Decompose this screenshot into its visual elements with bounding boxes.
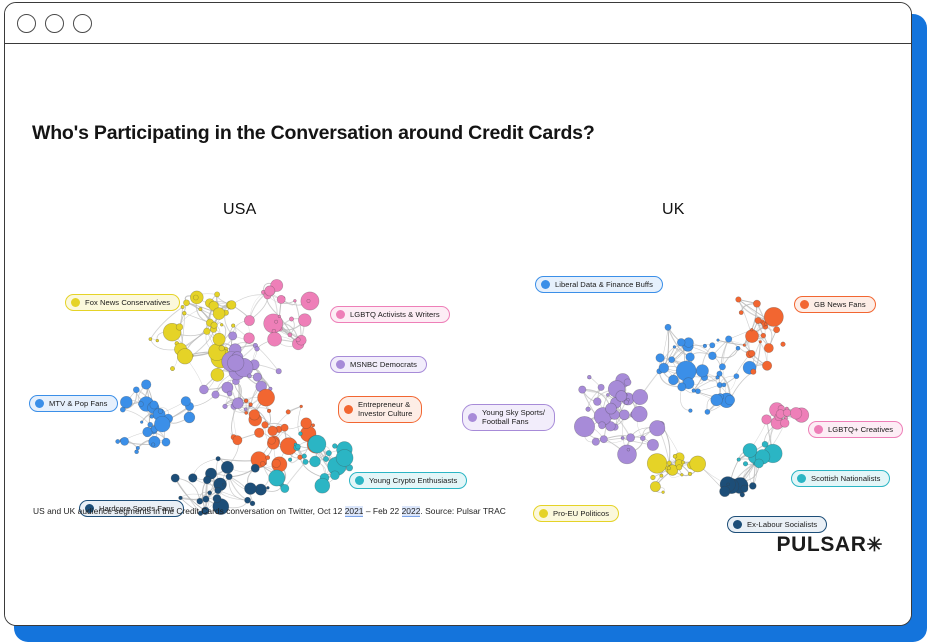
graph-node[interactable] bbox=[214, 292, 219, 297]
graph-node[interactable] bbox=[140, 421, 143, 424]
graph-node[interactable] bbox=[300, 426, 316, 442]
graph-node[interactable] bbox=[292, 338, 304, 350]
graph-node[interactable] bbox=[781, 342, 786, 347]
graph-node[interactable] bbox=[216, 456, 220, 460]
graph-node[interactable] bbox=[594, 408, 612, 426]
graph-node[interactable] bbox=[680, 473, 683, 476]
graph-node[interactable] bbox=[139, 397, 154, 412]
graph-node[interactable] bbox=[616, 373, 630, 387]
graph-node[interactable] bbox=[296, 335, 306, 345]
legend-pill-liberal-data-finance-buffs[interactable]: Liberal Data & Finance Buffs bbox=[535, 276, 663, 293]
graph-node[interactable] bbox=[255, 484, 266, 495]
graph-node[interactable] bbox=[295, 444, 300, 449]
graph-node[interactable] bbox=[753, 300, 760, 307]
graph-node[interactable] bbox=[211, 368, 224, 381]
graph-node[interactable] bbox=[346, 465, 353, 472]
graph-node[interactable] bbox=[766, 451, 769, 454]
graph-node[interactable] bbox=[743, 344, 746, 347]
graph-node[interactable] bbox=[214, 478, 227, 491]
graph-node[interactable] bbox=[236, 398, 242, 404]
graph-node[interactable] bbox=[750, 328, 753, 331]
graph-node[interactable] bbox=[241, 362, 246, 367]
graph-node[interactable] bbox=[301, 292, 319, 310]
graph-node[interactable] bbox=[120, 439, 125, 444]
graph-node[interactable] bbox=[148, 422, 153, 427]
graph-node[interactable] bbox=[701, 374, 708, 381]
graph-node[interactable] bbox=[220, 323, 223, 326]
graph-node[interactable] bbox=[221, 461, 233, 473]
graph-node[interactable] bbox=[773, 327, 779, 333]
graph-node[interactable] bbox=[627, 434, 635, 442]
graph-node[interactable] bbox=[612, 424, 619, 431]
graph-node[interactable] bbox=[720, 477, 735, 492]
graph-node[interactable] bbox=[281, 424, 288, 431]
graph-node[interactable] bbox=[619, 410, 629, 420]
graph-node[interactable] bbox=[764, 343, 773, 352]
graph-node[interactable] bbox=[188, 474, 197, 483]
legend-pill-lgbtq-activists-writers[interactable]: LGBTQ Activists & Writers bbox=[330, 306, 450, 323]
legend-pill-entrepreneur-investor-culture[interactable]: Entrepreneur &Investor Culture bbox=[338, 396, 422, 423]
graph-node[interactable] bbox=[151, 443, 155, 447]
graph-node[interactable] bbox=[213, 308, 225, 320]
graph-node[interactable] bbox=[640, 436, 645, 441]
graph-node[interactable] bbox=[281, 484, 289, 492]
graph-node[interactable] bbox=[649, 420, 664, 435]
graph-node[interactable] bbox=[745, 330, 758, 343]
graph-node[interactable] bbox=[232, 352, 243, 363]
graph-node[interactable] bbox=[233, 436, 242, 445]
graph-node[interactable] bbox=[746, 350, 753, 357]
graph-node[interactable] bbox=[254, 428, 264, 438]
graph-node[interactable] bbox=[249, 413, 262, 426]
graph-node[interactable] bbox=[323, 456, 328, 461]
graph-node[interactable] bbox=[719, 393, 734, 408]
graph-node[interactable] bbox=[667, 465, 678, 476]
graph-node[interactable] bbox=[219, 345, 225, 351]
graph-node[interactable] bbox=[146, 402, 154, 410]
graph-node[interactable] bbox=[586, 407, 591, 412]
graph-node[interactable] bbox=[760, 320, 764, 324]
graph-node[interactable] bbox=[605, 403, 616, 414]
graph-node[interactable] bbox=[669, 357, 675, 363]
graph-node[interactable] bbox=[264, 314, 283, 333]
graph-node[interactable] bbox=[154, 416, 170, 432]
graph-node[interactable] bbox=[223, 310, 228, 315]
graph-node[interactable] bbox=[710, 343, 715, 348]
graph-node[interactable] bbox=[624, 400, 628, 404]
graph-node[interactable] bbox=[682, 341, 693, 352]
graph-node[interactable] bbox=[606, 421, 616, 431]
graph-node[interactable] bbox=[208, 491, 212, 495]
graph-node[interactable] bbox=[204, 328, 211, 335]
graph-node[interactable] bbox=[659, 363, 669, 373]
graph-node[interactable] bbox=[732, 478, 748, 494]
graph-node[interactable] bbox=[288, 333, 292, 337]
graph-node[interactable] bbox=[335, 461, 342, 468]
graph-node[interactable] bbox=[209, 301, 219, 311]
graph-node[interactable] bbox=[150, 414, 154, 418]
graph-node[interactable] bbox=[234, 358, 253, 377]
graph-node[interactable] bbox=[310, 442, 317, 449]
graph-node[interactable] bbox=[690, 456, 706, 472]
graph-node[interactable] bbox=[734, 374, 739, 379]
graph-node[interactable] bbox=[717, 382, 722, 387]
graph-node[interactable] bbox=[121, 437, 129, 445]
graph-node[interactable] bbox=[601, 415, 606, 420]
graph-node[interactable] bbox=[776, 410, 785, 419]
graph-node[interactable] bbox=[647, 439, 658, 450]
graph-node[interactable] bbox=[268, 426, 278, 436]
graph-node[interactable] bbox=[624, 379, 631, 386]
graph-node[interactable] bbox=[749, 482, 756, 489]
graph-node[interactable] bbox=[133, 387, 139, 393]
graph-node[interactable] bbox=[750, 450, 755, 455]
caption-year-end[interactable]: 2022 bbox=[402, 506, 421, 517]
graph-node[interactable] bbox=[736, 297, 742, 303]
graph-node[interactable] bbox=[740, 493, 745, 498]
graph-node[interactable] bbox=[320, 438, 324, 442]
graph-node[interactable] bbox=[724, 480, 729, 485]
minimize-button[interactable] bbox=[45, 14, 64, 33]
graph-node[interactable] bbox=[717, 339, 720, 342]
graph-node[interactable] bbox=[668, 375, 678, 385]
graph-node[interactable] bbox=[598, 422, 605, 429]
graph-node[interactable] bbox=[264, 292, 272, 300]
graph-node[interactable] bbox=[230, 353, 237, 360]
graph-node[interactable] bbox=[226, 473, 232, 479]
graph-node[interactable] bbox=[763, 324, 768, 329]
graph-node[interactable] bbox=[175, 341, 179, 345]
graph-node[interactable] bbox=[227, 301, 236, 310]
graph-node[interactable] bbox=[215, 487, 221, 493]
graph-node[interactable] bbox=[279, 482, 284, 487]
graph-node[interactable] bbox=[150, 427, 157, 434]
graph-node[interactable] bbox=[231, 434, 237, 440]
graph-node[interactable] bbox=[730, 396, 733, 399]
graph-node[interactable] bbox=[249, 404, 252, 407]
graph-node[interactable] bbox=[251, 464, 259, 472]
graph-node[interactable] bbox=[665, 324, 671, 330]
graph-node[interactable] bbox=[762, 321, 767, 326]
graph-node[interactable] bbox=[276, 472, 283, 479]
graph-node[interactable] bbox=[153, 412, 159, 418]
graph-node[interactable] bbox=[724, 479, 739, 494]
graph-node[interactable] bbox=[275, 426, 282, 433]
graph-node[interactable] bbox=[720, 486, 731, 497]
graph-node[interactable] bbox=[277, 295, 285, 303]
graph-node[interactable] bbox=[247, 374, 251, 378]
graph-node[interactable] bbox=[728, 480, 731, 483]
graph-node[interactable] bbox=[618, 445, 637, 464]
graph-node[interactable] bbox=[267, 437, 279, 449]
graph-node[interactable] bbox=[245, 497, 251, 503]
graph-node[interactable] bbox=[253, 373, 262, 382]
graph-node[interactable] bbox=[269, 387, 273, 391]
graph-node[interactable] bbox=[752, 334, 755, 337]
graph-node[interactable] bbox=[148, 402, 159, 413]
graph-node[interactable] bbox=[276, 368, 281, 373]
graph-node[interactable] bbox=[330, 471, 339, 480]
graph-node[interactable] bbox=[610, 410, 620, 420]
graph-node[interactable] bbox=[227, 355, 244, 372]
graph-node[interactable] bbox=[158, 409, 163, 414]
caption-year-start[interactable]: 2021 bbox=[345, 506, 364, 517]
graph-node[interactable] bbox=[224, 347, 228, 351]
graph-node[interactable] bbox=[606, 393, 609, 396]
graph-node[interactable] bbox=[177, 349, 192, 364]
graph-node[interactable] bbox=[667, 466, 671, 470]
graph-node[interactable] bbox=[759, 340, 762, 343]
graph-node[interactable] bbox=[725, 336, 732, 343]
graph-node[interactable] bbox=[719, 364, 725, 370]
graph-node[interactable] bbox=[600, 436, 607, 443]
graph-node[interactable] bbox=[747, 332, 753, 338]
graph-node[interactable] bbox=[232, 373, 238, 379]
graph-node[interactable] bbox=[748, 452, 759, 463]
graph-node[interactable] bbox=[703, 344, 707, 348]
graph-node[interactable] bbox=[213, 333, 225, 345]
graph-node[interactable] bbox=[737, 458, 741, 462]
graph-node[interactable] bbox=[298, 314, 311, 327]
graph-node[interactable] bbox=[739, 478, 745, 484]
legend-pill-young-sky-sports-football-fans[interactable]: Young Sky Sports/Football Fans bbox=[462, 404, 555, 431]
graph-node[interactable] bbox=[185, 402, 193, 410]
graph-node[interactable] bbox=[203, 476, 211, 484]
graph-node[interactable] bbox=[673, 345, 676, 348]
graph-node[interactable] bbox=[696, 365, 708, 377]
graph-node[interactable] bbox=[684, 338, 694, 348]
graph-node[interactable] bbox=[768, 319, 771, 322]
graph-node[interactable] bbox=[265, 286, 275, 296]
graph-node[interactable] bbox=[210, 326, 217, 333]
graph-node[interactable] bbox=[251, 452, 267, 468]
graph-node[interactable] bbox=[174, 343, 186, 355]
graph-node[interactable] bbox=[263, 461, 267, 465]
graph-node[interactable] bbox=[771, 417, 784, 430]
graph-node[interactable] bbox=[199, 385, 208, 394]
graph-node[interactable] bbox=[244, 333, 255, 344]
graph-node[interactable] bbox=[708, 352, 716, 360]
graph-node[interactable] bbox=[206, 319, 213, 326]
legend-pill-msnbc-democrats[interactable]: MSNBC Democrats bbox=[330, 356, 427, 373]
graph-node[interactable] bbox=[682, 368, 691, 377]
graph-node[interactable] bbox=[689, 409, 693, 413]
graph-node[interactable] bbox=[755, 459, 764, 468]
graph-node[interactable] bbox=[163, 323, 181, 341]
graph-node[interactable] bbox=[229, 344, 241, 356]
graph-node[interactable] bbox=[149, 337, 152, 340]
graph-node[interactable] bbox=[162, 438, 170, 446]
graph-node[interactable] bbox=[298, 455, 303, 460]
graph-node[interactable] bbox=[269, 470, 285, 486]
graph-node[interactable] bbox=[260, 461, 265, 466]
graph-node[interactable] bbox=[229, 332, 237, 340]
graph-node[interactable] bbox=[743, 461, 748, 466]
graph-node[interactable] bbox=[593, 398, 601, 406]
graph-node[interactable] bbox=[266, 486, 269, 489]
graph-node[interactable] bbox=[337, 442, 353, 458]
graph-node[interactable] bbox=[764, 444, 783, 463]
graph-node[interactable] bbox=[269, 436, 280, 447]
graph-node[interactable] bbox=[598, 384, 604, 390]
graph-node[interactable] bbox=[682, 366, 685, 369]
graph-node[interactable] bbox=[252, 366, 256, 370]
graph-node[interactable] bbox=[308, 435, 326, 453]
graph-node[interactable] bbox=[268, 437, 276, 445]
graph-node[interactable] bbox=[278, 315, 281, 318]
graph-node[interactable] bbox=[574, 416, 594, 436]
graph-node[interactable] bbox=[616, 391, 627, 402]
graph-node[interactable] bbox=[656, 354, 665, 363]
graph-node[interactable] bbox=[310, 456, 321, 467]
graph-node[interactable] bbox=[120, 396, 132, 408]
graph-node[interactable] bbox=[268, 332, 282, 346]
graph-node[interactable] bbox=[755, 450, 770, 465]
graph-node[interactable] bbox=[171, 474, 179, 482]
graph-node[interactable] bbox=[256, 381, 267, 392]
graph-node[interactable] bbox=[681, 461, 684, 464]
graph-node[interactable] bbox=[227, 391, 232, 396]
graph-node[interactable] bbox=[300, 405, 303, 408]
graph-node[interactable] bbox=[181, 305, 184, 308]
graph-node[interactable] bbox=[610, 408, 614, 412]
graph-node[interactable] bbox=[657, 368, 662, 373]
graph-node[interactable] bbox=[244, 399, 248, 403]
graph-node[interactable] bbox=[170, 366, 174, 370]
graph-node[interactable] bbox=[120, 407, 125, 412]
graph-node[interactable] bbox=[783, 409, 790, 416]
graph-node[interactable] bbox=[267, 409, 271, 413]
graph-node[interactable] bbox=[675, 460, 683, 468]
graph-node[interactable] bbox=[630, 411, 637, 418]
legend-pill-ex-labour-socialists[interactable]: Ex-Labour Socialists bbox=[727, 516, 827, 533]
close-button[interactable] bbox=[17, 14, 36, 33]
graph-node[interactable] bbox=[143, 427, 153, 437]
graph-node[interactable] bbox=[610, 397, 621, 408]
graph-node[interactable] bbox=[688, 472, 692, 476]
graph-node[interactable] bbox=[587, 375, 591, 379]
graph-node[interactable] bbox=[261, 290, 265, 294]
graph-node[interactable] bbox=[205, 299, 214, 308]
graph-node[interactable] bbox=[211, 322, 218, 329]
graph-node[interactable] bbox=[778, 405, 785, 412]
graph-node[interactable] bbox=[183, 300, 189, 306]
graph-node[interactable] bbox=[282, 297, 285, 300]
graph-node[interactable] bbox=[150, 401, 158, 409]
graph-node[interactable] bbox=[647, 454, 667, 474]
graph-node[interactable] bbox=[315, 478, 330, 493]
graph-node[interactable] bbox=[255, 346, 260, 351]
graph-node[interactable] bbox=[785, 407, 788, 410]
graph-node[interactable] bbox=[727, 483, 730, 486]
graph-node[interactable] bbox=[741, 485, 748, 492]
graph-node[interactable] bbox=[244, 315, 254, 325]
graph-node[interactable] bbox=[755, 317, 761, 323]
graph-node[interactable] bbox=[190, 291, 203, 304]
graph-node[interactable] bbox=[761, 333, 766, 338]
graph-node[interactable] bbox=[223, 404, 228, 409]
graph-node[interactable] bbox=[622, 393, 634, 405]
graph-node[interactable] bbox=[717, 371, 722, 376]
graph-node[interactable] bbox=[726, 479, 738, 491]
graph-node[interactable] bbox=[301, 418, 312, 429]
graph-node[interactable] bbox=[258, 389, 275, 406]
graph-node[interactable] bbox=[135, 450, 139, 454]
graph-node[interactable] bbox=[662, 491, 665, 494]
graph-node[interactable] bbox=[665, 465, 674, 474]
graph-node[interactable] bbox=[302, 320, 306, 324]
graph-node[interactable] bbox=[232, 398, 243, 409]
graph-node[interactable] bbox=[298, 432, 302, 436]
graph-node[interactable] bbox=[711, 394, 723, 406]
graph-node[interactable] bbox=[687, 461, 695, 469]
graph-node[interactable] bbox=[288, 458, 292, 462]
graph-node[interactable] bbox=[780, 419, 789, 428]
graph-node[interactable] bbox=[280, 438, 297, 455]
graph-node[interactable] bbox=[790, 407, 802, 419]
graph-node[interactable] bbox=[764, 307, 783, 326]
graph-node[interactable] bbox=[294, 444, 301, 451]
graph-node[interactable] bbox=[182, 311, 186, 315]
graph-node[interactable] bbox=[211, 348, 231, 368]
legend-pill-scottish-nationalists[interactable]: Scottish Nationalists bbox=[791, 470, 890, 487]
graph-node[interactable] bbox=[675, 453, 685, 463]
graph-node[interactable] bbox=[770, 403, 784, 417]
graph-node[interactable] bbox=[736, 346, 740, 350]
graph-node[interactable] bbox=[332, 444, 337, 449]
graph-node[interactable] bbox=[266, 456, 270, 460]
graph-node[interactable] bbox=[197, 498, 203, 504]
graph-node[interactable] bbox=[302, 454, 307, 459]
graph-node[interactable] bbox=[764, 322, 767, 325]
graph-node[interactable] bbox=[632, 389, 647, 404]
graph-node[interactable] bbox=[751, 369, 757, 375]
graph-node[interactable] bbox=[676, 361, 696, 381]
legend-pill-lgbtq-plus-creatives[interactable]: LGBTQ+ Creatives bbox=[808, 421, 903, 438]
graph-node[interactable] bbox=[676, 465, 682, 471]
graph-node[interactable] bbox=[686, 353, 695, 362]
graph-node[interactable] bbox=[289, 317, 293, 321]
graph-node[interactable] bbox=[755, 452, 766, 463]
graph-node[interactable] bbox=[784, 416, 787, 419]
legend-pill-mtv-pop-fans[interactable]: MTV & Pop Fans bbox=[29, 395, 118, 412]
graph-node[interactable] bbox=[272, 459, 280, 467]
graph-node[interactable] bbox=[278, 326, 283, 331]
graph-node[interactable] bbox=[749, 350, 755, 356]
graph-node[interactable] bbox=[156, 339, 159, 342]
graph-node[interactable] bbox=[326, 450, 331, 455]
graph-node[interactable] bbox=[717, 393, 724, 400]
graph-node[interactable] bbox=[683, 378, 694, 389]
graph-node[interactable] bbox=[627, 448, 630, 451]
graph-node[interactable] bbox=[722, 383, 726, 387]
graph-node[interactable] bbox=[651, 475, 656, 480]
graph-node[interactable] bbox=[657, 421, 664, 428]
legend-pill-gb-news-fans[interactable]: GB News Fans bbox=[794, 296, 876, 313]
graph-node[interactable] bbox=[272, 457, 287, 472]
graph-node[interactable] bbox=[743, 443, 757, 457]
graph-node[interactable] bbox=[184, 412, 195, 423]
graph-node[interactable] bbox=[650, 481, 660, 491]
graph-node[interactable] bbox=[151, 426, 158, 433]
graph-node[interactable] bbox=[328, 457, 347, 476]
graph-node[interactable] bbox=[249, 360, 259, 370]
legend-pill-fox-news-conservatives[interactable]: Fox News Conservatives bbox=[65, 294, 180, 311]
graph-node[interactable] bbox=[231, 403, 238, 410]
legend-pill-young-crypto-enthusiasts[interactable]: Young Crypto Enthusiasts bbox=[349, 472, 467, 489]
graph-node[interactable] bbox=[212, 391, 219, 398]
graph-node[interactable] bbox=[138, 401, 143, 406]
